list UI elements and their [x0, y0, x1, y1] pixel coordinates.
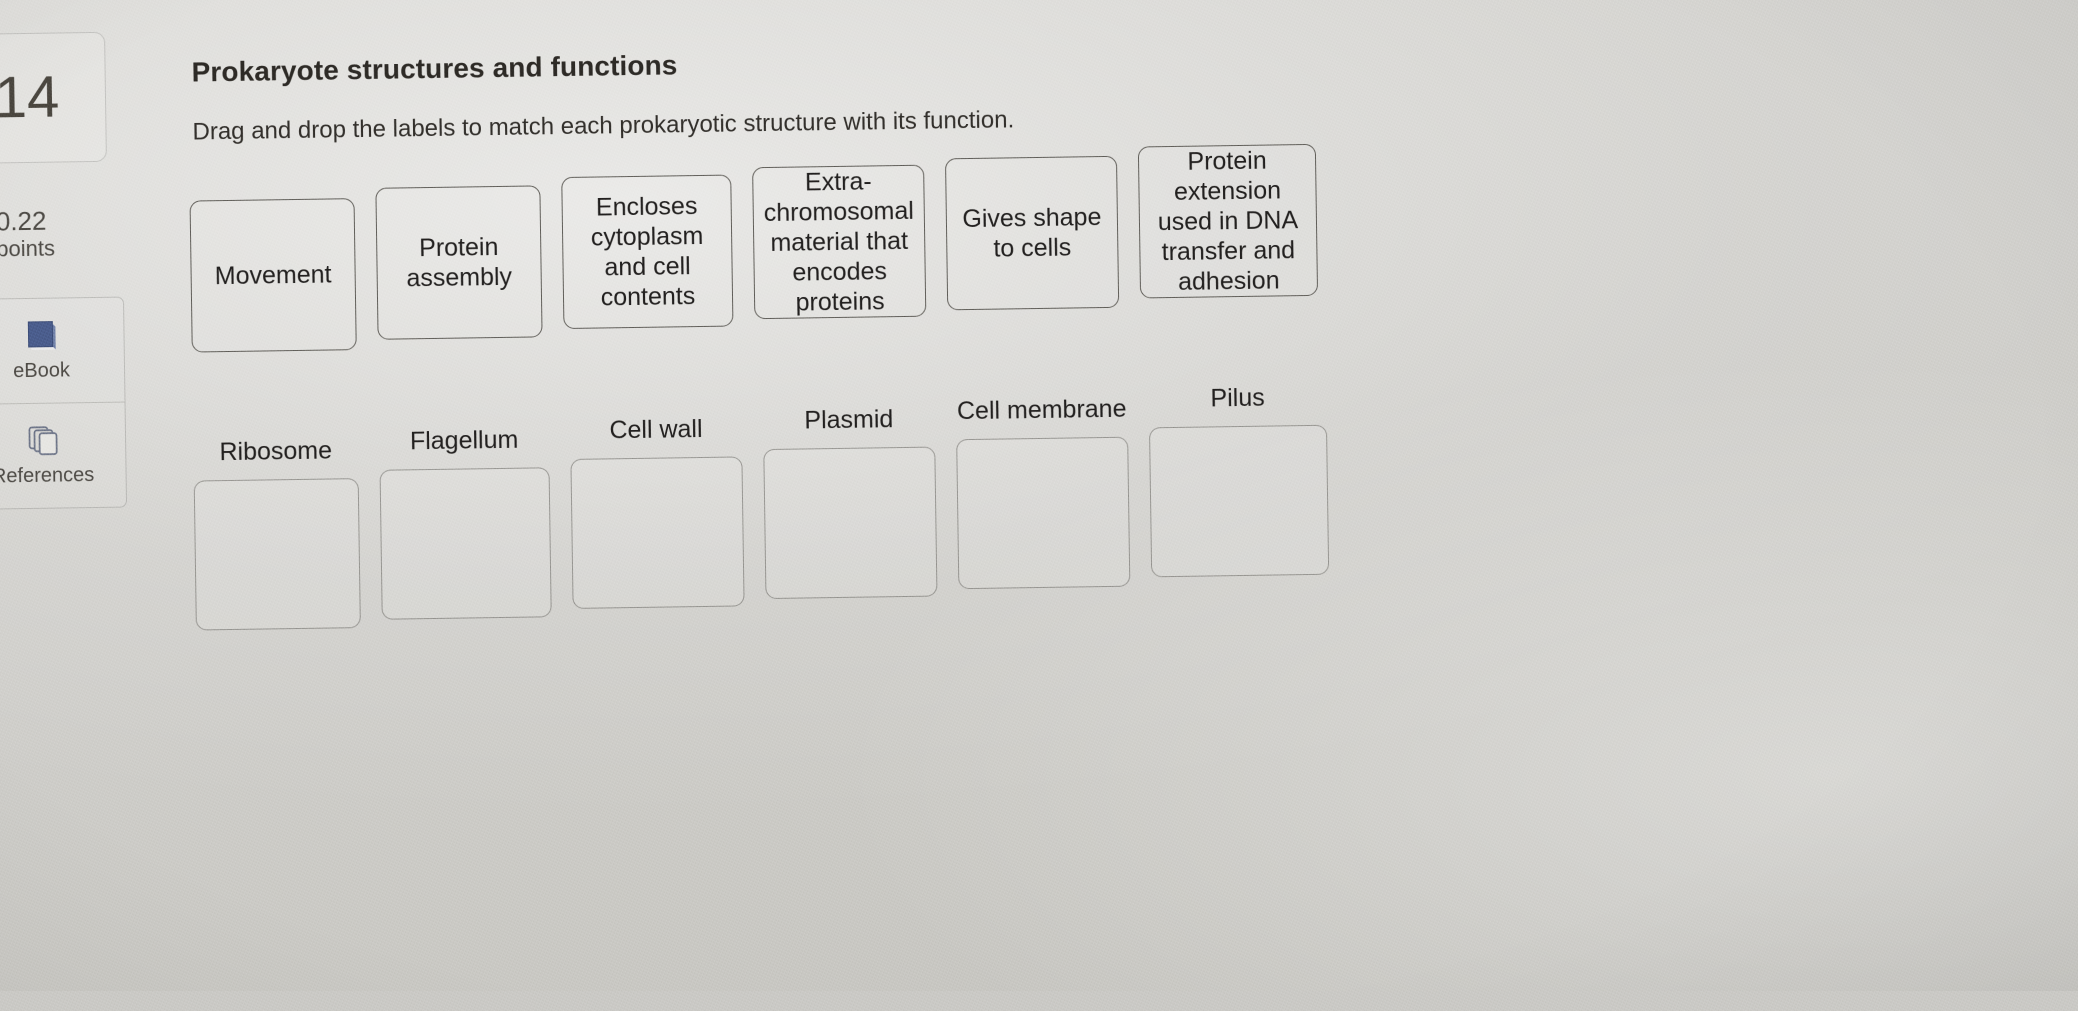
drop-zone[interactable] [1149, 425, 1329, 578]
draggable-label[interactable]: Protein assembly [375, 185, 542, 339]
drop-zone[interactable] [956, 437, 1130, 590]
drop-targets-row: Ribosome Flagellum Cell wall Plasmid Cel… [193, 396, 1330, 631]
ebook-button[interactable]: eBook [0, 298, 125, 404]
drop-target-label: Cell membrane [957, 395, 1127, 427]
tool-panel: eBook References [0, 297, 127, 510]
drop-target-group: Ribosome [193, 436, 361, 630]
points-label: points [0, 234, 161, 262]
drop-target-group: Flagellum [379, 425, 552, 620]
points-display: 0.22 points [0, 204, 161, 263]
references-button[interactable]: References [0, 402, 126, 509]
drop-target-group: Plasmid [763, 405, 938, 600]
drop-target-label: Flagellum [410, 426, 519, 457]
drop-target-group: Cell wall [570, 414, 745, 609]
drop-zone[interactable] [570, 456, 744, 609]
drop-target-label: Plasmid [804, 405, 893, 435]
question-screen: 14 0.22 points eBook [0, 0, 2078, 1006]
drop-target-label: Pilus [1210, 384, 1265, 414]
drop-zone[interactable] [194, 478, 361, 630]
drop-target-group: Pilus [1148, 383, 1329, 578]
draggable-label[interactable]: Movement [190, 198, 357, 352]
references-label: References [0, 464, 94, 489]
question-number: 14 [0, 68, 66, 127]
ebook-icon [23, 319, 60, 354]
instruction-text: Drag and drop the labels to match each p… [192, 106, 1014, 146]
question-content: Prokaryote structures and functions Drag… [169, 0, 2078, 1004]
drop-zone[interactable] [380, 467, 552, 620]
draggable-label[interactable]: Protein extension used in DNA transfer a… [1138, 144, 1318, 299]
draggable-label[interactable]: Extra-chromosomal material that encodes … [752, 165, 926, 320]
draggable-labels-row: Movement Protein assembly Encloses cytop… [189, 156, 1319, 353]
drop-target-group: Cell membrane [956, 395, 1131, 590]
draggable-label[interactable]: Gives shape to cells [945, 156, 1119, 311]
drop-target-label: Ribosome [219, 436, 332, 467]
points-value: 0.22 [0, 204, 161, 237]
ebook-label: eBook [13, 360, 70, 384]
question-number-badge: 14 [0, 32, 107, 164]
draggable-label[interactable]: Encloses cytoplasm and cell contents [561, 175, 733, 330]
page-title: Prokaryote structures and functions [191, 49, 677, 88]
references-icon [24, 424, 61, 459]
question-sidebar: 14 0.22 points eBook [0, 31, 165, 510]
drop-zone[interactable] [763, 447, 937, 600]
drop-target-label: Cell wall [609, 415, 703, 445]
